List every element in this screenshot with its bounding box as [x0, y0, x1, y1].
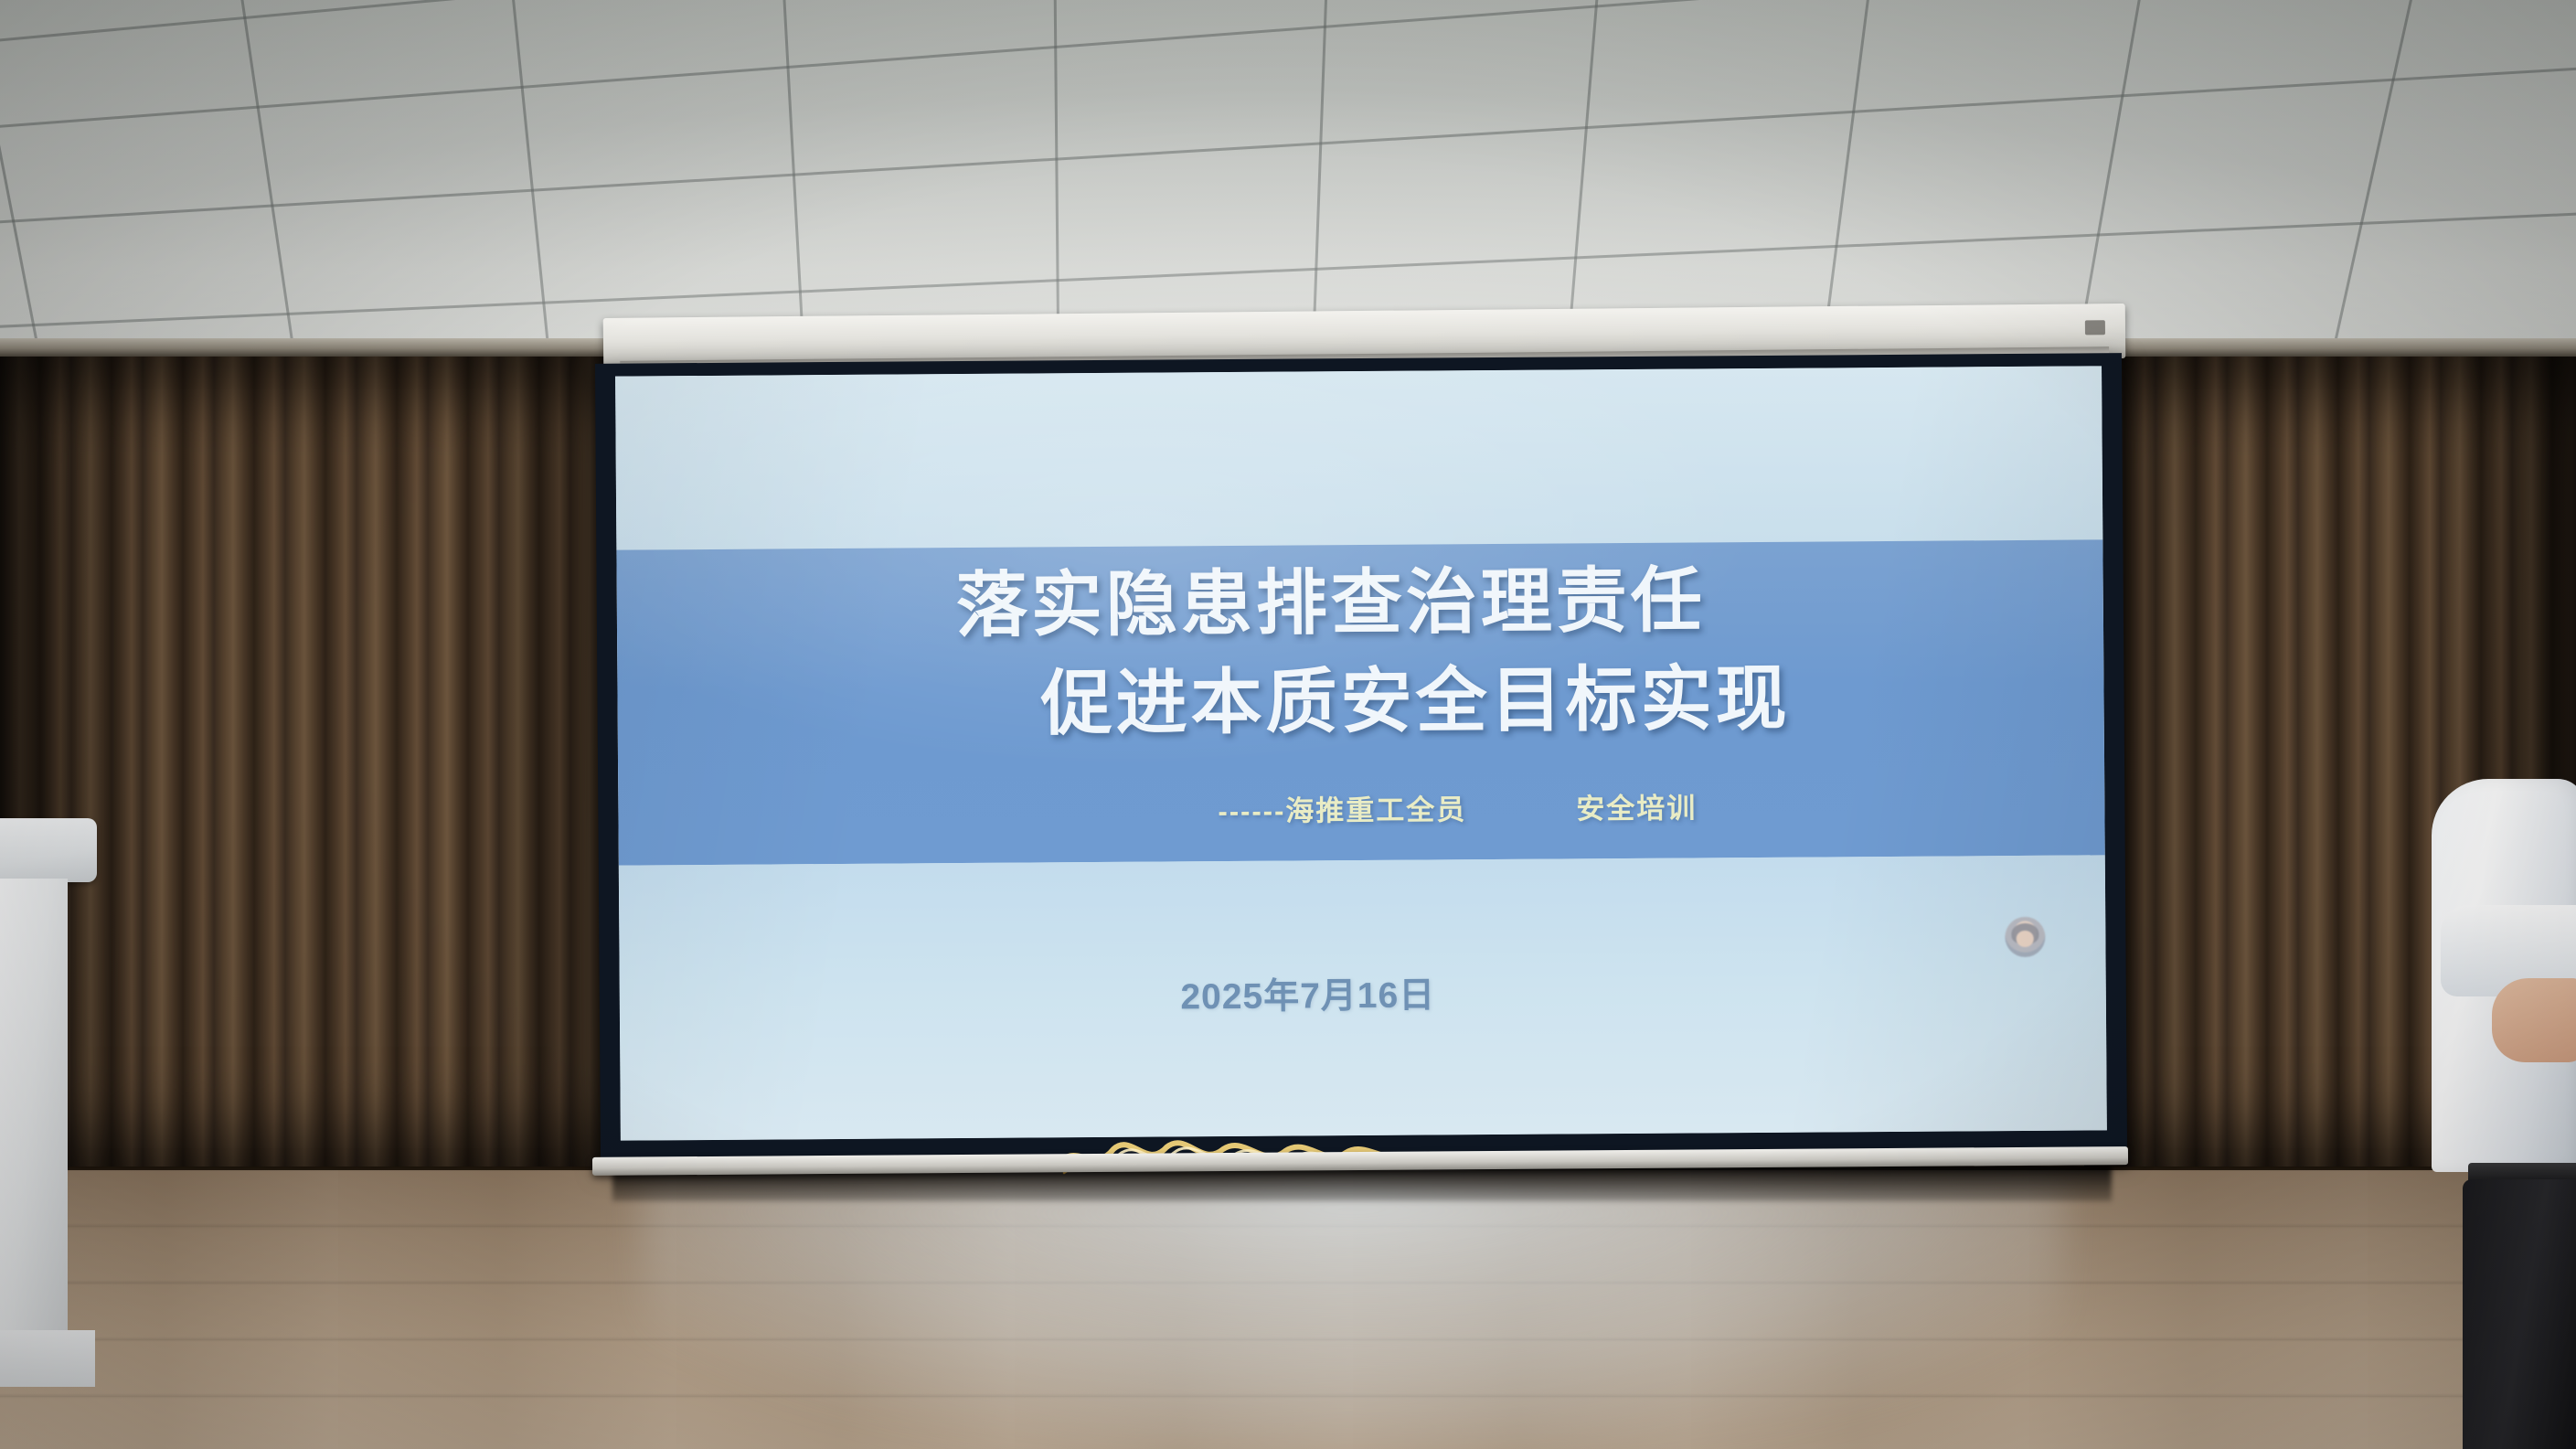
standing-person: [2421, 779, 2576, 1449]
person-arm: [2492, 978, 2576, 1062]
screen-border: 落实隐患排查治理责任 促进本质安全目标实现 ------海推重工全员 安全培训 …: [595, 353, 2127, 1164]
slide-subtitle-right: 安全培训: [1576, 784, 1697, 826]
slide-title-block: 落实隐患排查治理责任 促进本质安全目标实现: [616, 549, 2103, 756]
projected-slide: 落实隐患排查治理责任 促进本质安全目标实现 ------海推重工全员 安全培训 …: [615, 366, 2107, 1140]
presenter-avatar-icon: [2005, 917, 2045, 957]
lectern-top: [0, 818, 97, 882]
slide-date: 2025年7月16日: [615, 963, 2051, 1024]
lectern-column: [0, 879, 68, 1336]
slide-canvas: 落实隐患排查治理责任 促进本质安全目标实现 ------海推重工全员 安全培训 …: [615, 366, 2107, 1140]
person-trousers: [2463, 1179, 2576, 1449]
slide-subtitle-left: ------海推重工全员: [1218, 786, 1466, 829]
conference-room-scene: 落实隐患排查治理责任 促进本质安全目标实现 ------海推重工全员 安全培训 …: [0, 0, 2576, 1449]
lectern: [0, 818, 99, 1449]
slide-title-line-1: 落实隐患排查治理责任: [615, 549, 2074, 658]
projection-screen-assembly: 落实隐患排查治理责任 促进本质安全目标实现 ------海推重工全员 安全培训 …: [594, 311, 2148, 1188]
slide-title-line-2: 促进本质安全目标实现: [672, 647, 2107, 756]
projector-light-spill: [640, 1175, 2066, 1449]
housing-brand-label: [2085, 320, 2105, 335]
slide-band-top: [615, 366, 2102, 549]
lectern-base: [0, 1330, 95, 1387]
avatar-face: [2017, 931, 2034, 947]
